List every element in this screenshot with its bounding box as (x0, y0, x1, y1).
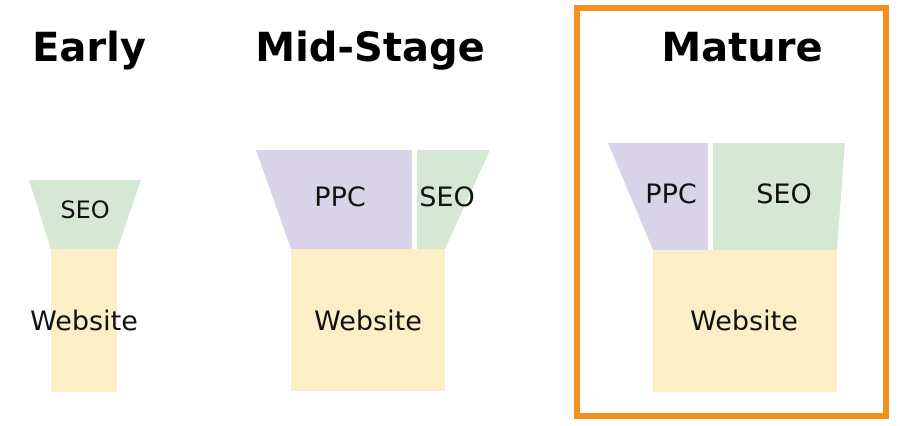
website-block-early (51, 249, 117, 392)
website-block-mature (653, 250, 837, 392)
website-block-mid-stage (291, 249, 445, 391)
channel-shape-mature-seo (713, 143, 845, 250)
channel-shape-mid-stage-seo (417, 150, 490, 249)
marketing-mix-maturity-diagram: EarlySEOWebsiteMid-StagePPCSEOWebsiteMat… (0, 0, 900, 426)
column-title-mature: Mature (542, 28, 900, 68)
website-label-early: Website (0, 308, 234, 335)
channel-shape-mid-stage-ppc (256, 150, 412, 249)
channel-shape-mature-ppc (608, 143, 708, 250)
column-title-mid-stage: Mid-Stage (170, 28, 570, 68)
channel-shape-early-seo (29, 180, 141, 250)
